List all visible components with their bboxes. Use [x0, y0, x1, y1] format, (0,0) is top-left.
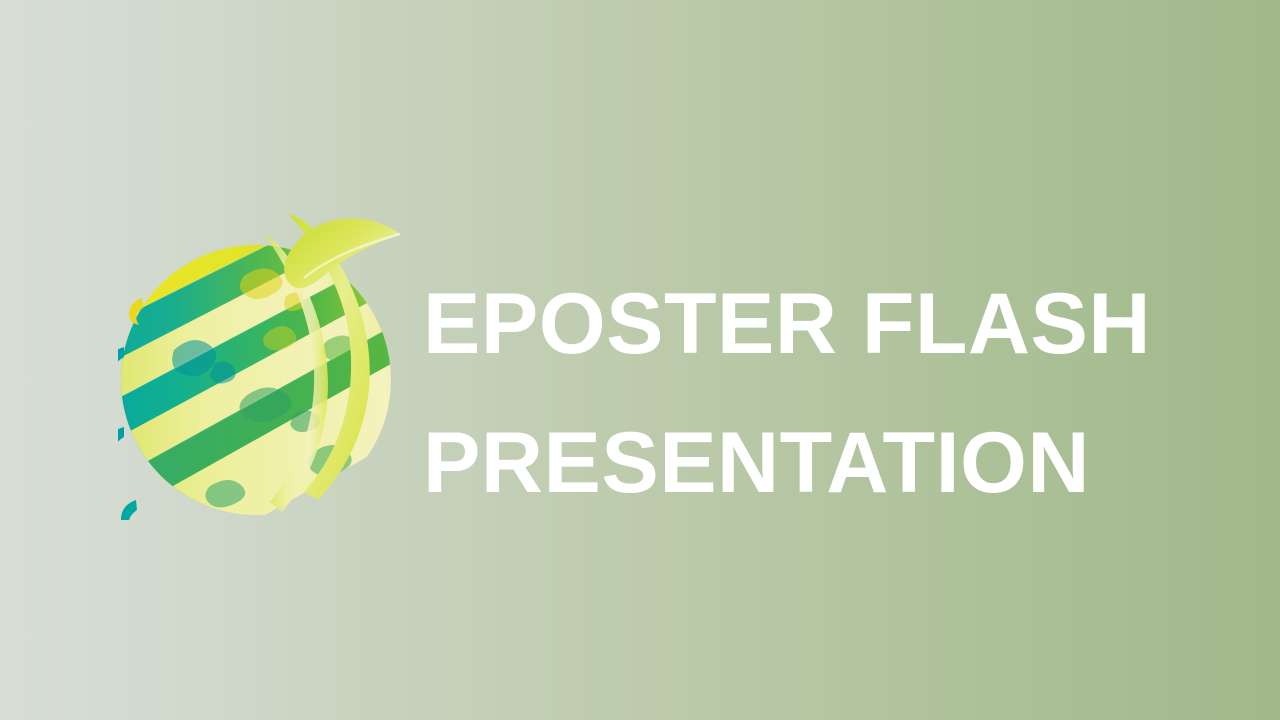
globe-ribbon-leaf-logo	[118, 200, 408, 520]
page-title: EPOSTER FLASH PRESENTATION	[423, 255, 1223, 533]
slide-canvas: EPOSTER FLASH PRESENTATION	[0, 0, 1280, 720]
title-line-1: EPOSTER FLASH	[423, 255, 1223, 394]
title-line-2: PRESENTATION	[423, 394, 1223, 533]
